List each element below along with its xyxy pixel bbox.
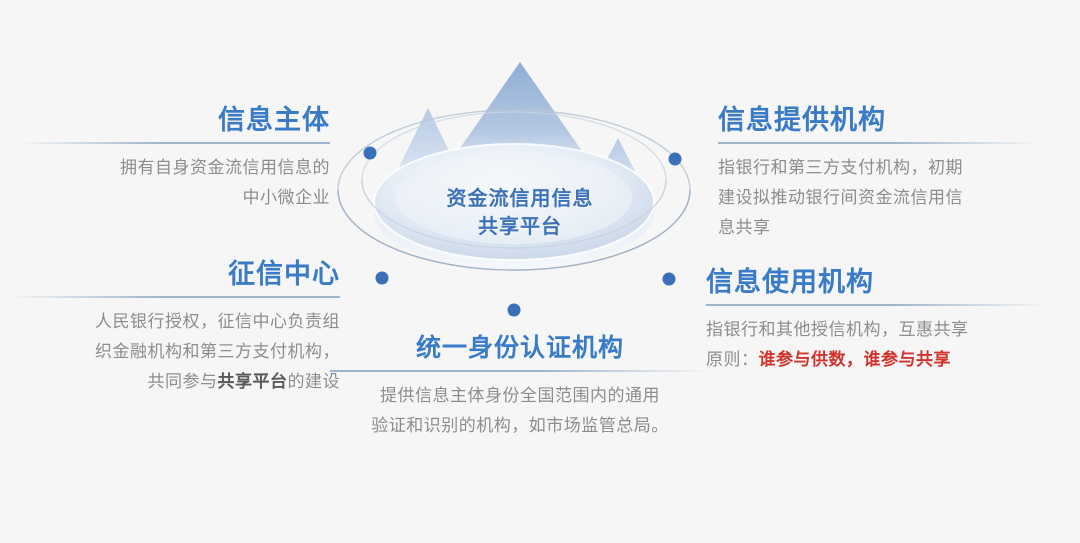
body-line: 中小微企业 [243, 188, 331, 207]
body-line: 指银行和第三方支付机构，初期 [718, 158, 963, 177]
orbit-node-dot [508, 304, 521, 317]
body-line-prefix: 原则： [706, 350, 759, 369]
orbit-node-dot [669, 153, 682, 166]
block-credit-center: 征信中心 人民银行授权，征信中心负责组 织金融机构和第三方支付机构， 共同参与共… [10, 258, 340, 397]
block-info-subject-body: 拥有自身资金流信用信息的 中小微企业 [20, 153, 330, 213]
title-divider [330, 370, 710, 372]
block-info-provider-title: 信息提供机构 [718, 104, 1038, 136]
body-line: 提供信息主体身份全国范围内的通用 [380, 386, 660, 405]
block-identity-auth-title: 统一身份认证机构 [330, 332, 710, 364]
body-line-prefix: 共同参与 [148, 372, 218, 391]
block-info-subject-title: 信息主体 [20, 104, 330, 136]
central-platform-graphic: 资金流信用信息 共享平台 [330, 30, 710, 340]
title-divider [718, 142, 1038, 144]
block-info-user-title: 信息使用机构 [706, 266, 1046, 298]
platform-label: 资金流信用信息 共享平台 [330, 185, 710, 241]
orbit-node-dot [663, 273, 676, 286]
title-divider [706, 304, 1046, 306]
orbit-node-dot [376, 272, 389, 285]
block-info-subject: 信息主体 拥有自身资金流信用信息的 中小微企业 [20, 104, 330, 213]
title-divider [10, 296, 340, 298]
body-line: 指银行和其他授信机构，互惠共享 [706, 320, 969, 339]
block-identity-auth-body: 提供信息主体身份全国范围内的通用 验证和识别的机构，如市场监管总局。 [330, 381, 710, 441]
platform-label-line2: 共享平台 [330, 213, 710, 241]
orbit-node-dot [364, 147, 377, 160]
block-info-user: 信息使用机构 指银行和其他授信机构，互惠共享 原则：谁参与供数，谁参与共享 [706, 266, 1046, 375]
block-info-provider: 信息提供机构 指银行和第三方支付机构，初期 建设拟推动银行间资金流信用信 息共享 [718, 104, 1038, 243]
infographic-canvas: 资金流信用信息 共享平台 信息主体 拥有自身资金流信用信息的 中小微企业 征信中… [0, 0, 1080, 543]
body-line: 拥有自身资金流信用信息的 [120, 158, 330, 177]
body-line: 织金融机构和第三方支付机构， [95, 342, 340, 361]
body-line: 建设拟推动银行间资金流信用信 [718, 188, 963, 207]
block-credit-center-body: 人民银行授权，征信中心负责组 织金融机构和第三方支付机构， 共同参与共享平台的建… [10, 307, 340, 397]
body-line-emphasis: 共享平台 [218, 372, 288, 391]
body-line: 息共享 [718, 218, 771, 237]
body-line: 人民银行授权，征信中心负责组 [95, 312, 340, 331]
body-line: 验证和识别的机构，如市场监管总局。 [371, 416, 669, 435]
block-identity-auth: 统一身份认证机构 提供信息主体身份全国范围内的通用 验证和识别的机构，如市场监管… [330, 332, 710, 441]
title-divider [20, 142, 330, 144]
body-line-emphasis-red: 谁参与供数，谁参与共享 [759, 350, 952, 369]
block-info-provider-body: 指银行和第三方支付机构，初期 建设拟推动银行间资金流信用信 息共享 [718, 153, 1038, 243]
block-info-user-body: 指银行和其他授信机构，互惠共享 原则：谁参与供数，谁参与共享 [706, 315, 1046, 375]
platform-label-line1: 资金流信用信息 [447, 188, 594, 210]
block-credit-center-title: 征信中心 [10, 258, 340, 290]
